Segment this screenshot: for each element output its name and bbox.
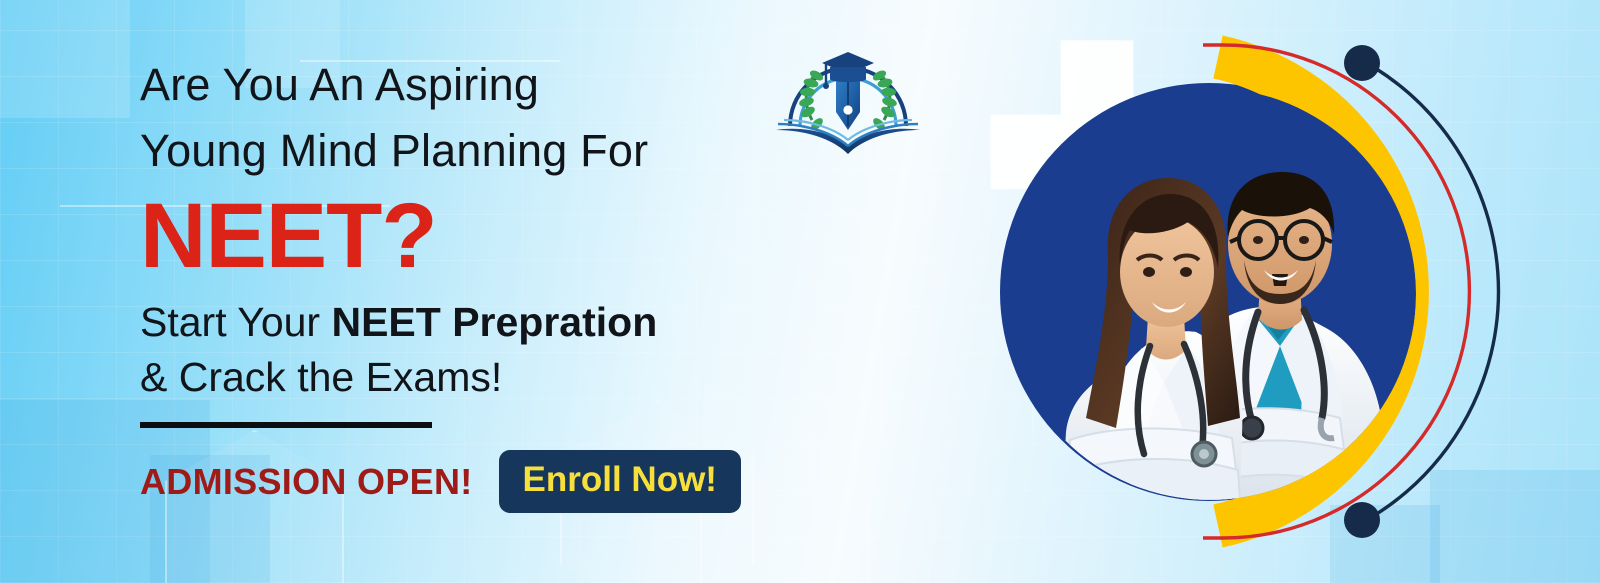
background-block-1	[0, 0, 130, 118]
medical-students-photo	[1004, 88, 1416, 500]
divider-rule	[140, 422, 432, 428]
headline-line-1: Are You An Aspiring	[140, 52, 840, 118]
navy-dot-top	[1344, 45, 1380, 81]
students-illustration	[1004, 88, 1416, 500]
subheadline-prefix: Start Your	[140, 299, 331, 345]
navy-dot-bottom	[1344, 502, 1380, 538]
enroll-now-button[interactable]: Enroll Now!	[499, 450, 741, 513]
logo-pen-nib-icon	[836, 78, 860, 130]
subheadline-line-1: Start Your NEET Prepration	[140, 294, 840, 350]
subheadline-line-2: & Crack the Exams!	[140, 350, 840, 404]
headline-line-2: Young Mind Planning For	[140, 118, 840, 184]
subheadline-emphasis: NEET Prepration	[331, 299, 657, 345]
institute-logo[interactable]	[768, 26, 928, 158]
exam-name-heading: NEET?	[140, 188, 840, 284]
hero-visual	[980, 0, 1600, 583]
logo-graphic	[768, 26, 928, 158]
call-to-action-row: ADMISSION OPEN! Enroll Now!	[140, 450, 840, 513]
neet-admission-banner: Are You An Aspiring Young Mind Planning …	[0, 0, 1600, 583]
admission-status-badge: ADMISSION OPEN!	[140, 461, 473, 503]
headline-copy-block: Are You An Aspiring Young Mind Planning …	[140, 52, 840, 513]
